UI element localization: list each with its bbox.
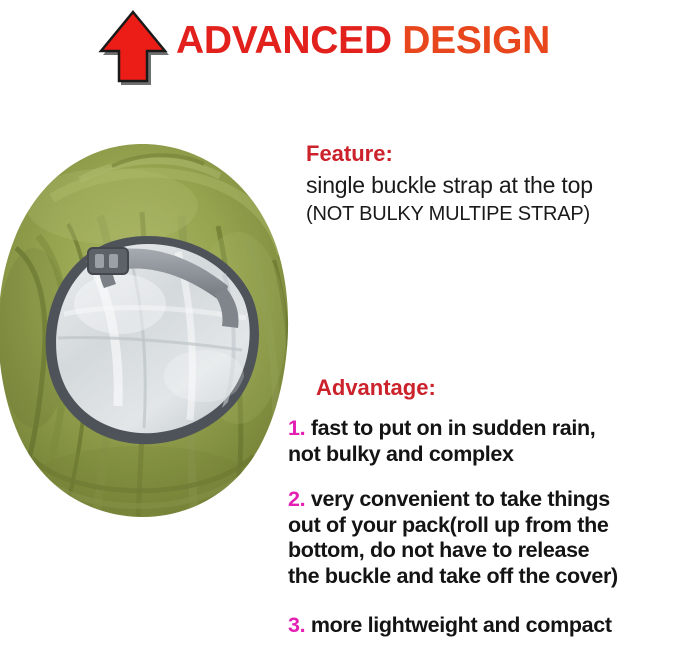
page-title-advanced: ADVANCED (176, 19, 392, 62)
advantage-item-2-line-3: bottom, do not have to release (288, 538, 589, 562)
advantage-item-2-line-2: out of your pack(roll up from the (288, 513, 609, 537)
advantage-item-2-number: 2. (288, 487, 305, 511)
advantage-item-1: 1. fast to put on in sudden rain, not bu… (288, 416, 678, 467)
page-title-space (392, 19, 403, 62)
advantage-item-2-line-1: very convenient to take things (311, 487, 610, 511)
advantage-item-2-line-4: the buckle and take off the cover) (288, 564, 618, 588)
product-image-rain-cover (0, 128, 300, 518)
advantage-item-3: 3. more lightweight and compact (288, 613, 678, 639)
advantage-heading: Advantage: (316, 374, 678, 402)
feature-description-line-2: (NOT BULKY MULTIPE STRAP) (306, 200, 674, 228)
advantage-section: Advantage: 1. fast to put on in sudden r… (288, 374, 678, 639)
advantage-item-2: 2. very convenient to take things out of… (288, 487, 678, 589)
feature-heading: Feature: (306, 140, 674, 168)
advantage-item-3-number: 3. (288, 613, 305, 637)
advantage-item-1-line-1: fast to put on in sudden rain, (311, 416, 596, 440)
feature-section: Feature: single buckle strap at the top … (306, 140, 674, 228)
page-title-design: DESIGN (402, 19, 550, 62)
header-banner: ADVANCED DESIGN (0, 0, 679, 95)
advantage-item-3-line-1: more lightweight and compact (311, 613, 612, 637)
arrow-up-icon (96, 8, 170, 86)
feature-description-line-1: single buckle strap at the top (306, 170, 674, 200)
advantage-item-1-line-2: not bulky and complex (288, 442, 514, 466)
advantage-item-1-number: 1. (288, 416, 305, 440)
page-title: ADVANCED DESIGN (176, 18, 550, 64)
